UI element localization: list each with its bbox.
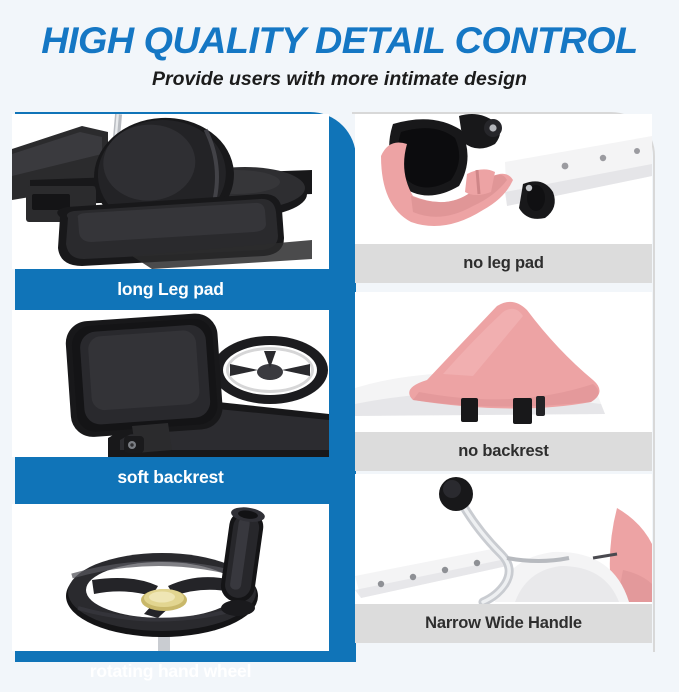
photo-no-leg-pad — [355, 114, 652, 244]
photo-soft-backrest — [12, 310, 329, 457]
photo-long-leg-pad — [12, 114, 329, 269]
caption-narrow-wide-handle: Narrow Wide Handle — [355, 604, 652, 643]
photo-no-backrest — [355, 292, 652, 432]
page-header: HIGH QUALITY DETAIL CONTROL Provide user… — [0, 0, 679, 91]
caption-long-leg-pad: long Leg pad — [12, 269, 329, 310]
bad-cell-leg-pad[interactable]: no leg pad — [355, 114, 652, 283]
caption-no-leg-pad: no leg pad — [355, 244, 652, 283]
photo-narrow-wide-handle — [355, 474, 652, 604]
good-cell-backrest[interactable]: soft backrest — [12, 310, 329, 498]
good-cell-leg-pad[interactable]: long Leg pad — [12, 114, 329, 310]
comparison-board: long Leg pad — [0, 104, 679, 679]
bad-cell-handle[interactable]: Narrow Wide Handle — [355, 474, 652, 643]
bad-cell-backrest[interactable]: no backrest — [355, 292, 652, 471]
good-cell-hand-wheel[interactable]: rotating hand wheel — [12, 504, 329, 692]
caption-soft-backrest: soft backrest — [12, 457, 329, 498]
caption-no-backrest: no backrest — [355, 432, 652, 471]
page-subtitle: Provide users with more intimate design — [0, 68, 679, 91]
photo-rotating-hand-wheel — [12, 504, 329, 651]
caption-rotating-hand-wheel: rotating hand wheel — [12, 651, 329, 692]
page-title: HIGH QUALITY DETAIL CONTROL — [0, 22, 679, 61]
